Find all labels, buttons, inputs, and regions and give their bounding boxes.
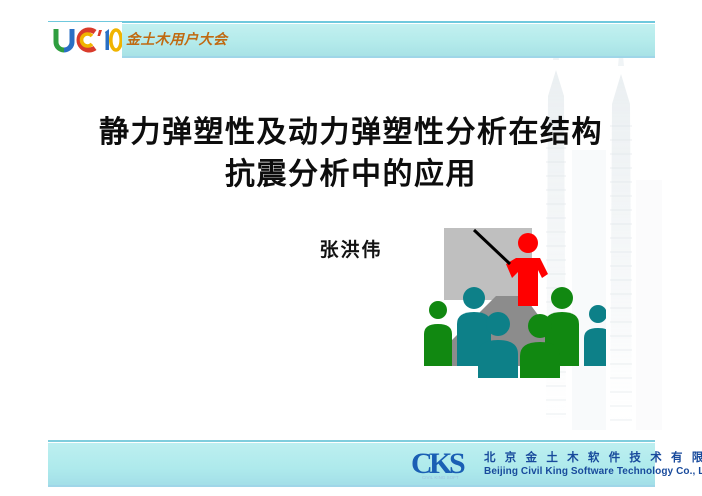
presentation-lecture-clipart [416, 228, 606, 378]
presentation-slide: 金土木用户大会 静力弹塑性及动力弹塑性分析在结构 抗震分析中的应用 张洪伟 [0, 0, 702, 496]
header-top-rule [48, 21, 655, 23]
slide-title-line-1: 静力弹塑性及动力弹塑性分析在结构 [46, 112, 656, 154]
company-name-cn: 北 京 金 土 木 软 件 技 术 有 限 公 司 [484, 449, 702, 465]
uc10-logo-container [48, 22, 122, 58]
company-name-en: Beijing Civil King Software Technology C… [484, 466, 702, 477]
audience-figure [424, 301, 452, 366]
footer-top-rule [48, 440, 655, 442]
conference-name: 金土木用户大会 [126, 29, 228, 49]
uc10-conference-logo-icon [48, 22, 122, 58]
svg-text:CIVIL KING SOFT: CIVIL KING SOFT [422, 475, 459, 480]
slide-title-line-2: 抗震分析中的应用 [46, 154, 656, 196]
slide-title: 静力弹塑性及动力弹塑性分析在结构 抗震分析中的应用 [46, 112, 656, 196]
audience-figure [584, 305, 606, 366]
cks-company-logo-icon: C K S CIVIL KING SOFT [412, 445, 478, 483]
